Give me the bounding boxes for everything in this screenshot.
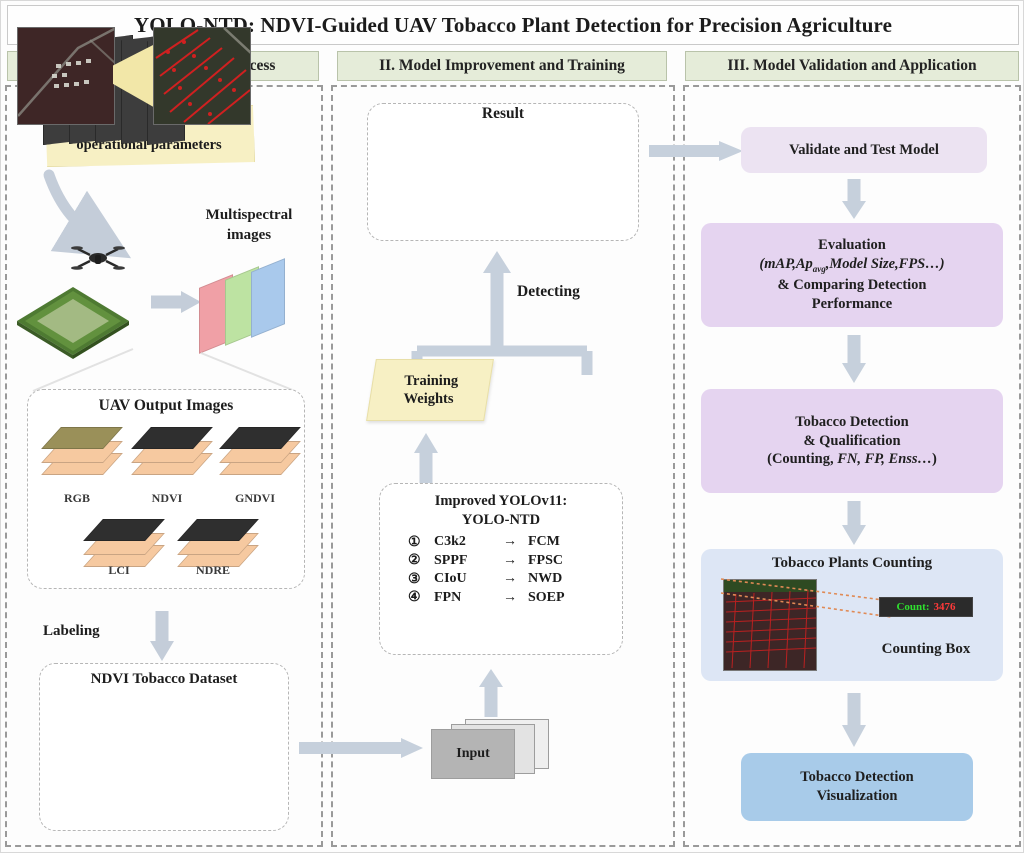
arrow-validate-to-eval [839,177,869,221]
model-title-line1: Improved YOLOv11: [380,492,622,511]
multispectral-bands [197,259,301,355]
improvement-to: NWD [528,571,590,587]
training-weights-line2: Weights [404,390,454,408]
detection-line3-italic: FN, FP, Enss… [837,451,932,467]
arrow-model-to-weights [411,431,441,485]
column-header-3: III. Model Validation and Application [685,51,1019,81]
arrow-dataset-to-input [297,736,427,762]
evaluation-box: Evaluation (mAP,Apavg,Model Size,FPS…) &… [701,223,1003,327]
detection-line3-prefix: (Counting, [767,451,837,467]
improvement-arrow-icon: → [492,571,528,587]
improvement-to: FCM [528,534,590,550]
improvement-number: ③ [408,571,434,588]
labeling-label: Labeling [43,623,139,640]
training-weights-note: Training Weights [366,359,494,421]
validate-label: Validate and Test Model [789,141,939,160]
improvement-row-4: ④ FPN → SOEP [408,589,594,606]
improvement-from: FPN [434,590,492,606]
detecting-label: Detecting [517,283,637,301]
improvement-to: FPSC [528,553,590,569]
counting-title: Tobacco Plants Counting [701,555,1003,572]
improvement-number: ② [408,552,434,569]
arrow-detecting [411,249,601,361]
count-badge-label: Count: [896,601,929,613]
result-image-detections-content [154,28,251,125]
evaluation-line3: & Comparing Detection [777,276,926,295]
arrow-detection-to-counting [839,499,869,547]
improvement-number: ④ [408,589,434,606]
improved-yolo-content: Improved YOLOv11: YOLO-NTD ① C3k2 → FCM … [380,484,622,606]
tobacco-detection-qualification-box: Tobacco Detection & Qualification (Count… [701,389,1003,493]
result-group [367,103,639,241]
arrow-counting-to-visualization [839,691,869,749]
model-title-line2: YOLO-NTD [380,511,622,530]
improved-yolo-group: Improved YOLOv11: YOLO-NTD ① C3k2 → FCM … [379,483,623,655]
arrow-input-to-model [476,667,506,719]
column-header-2: II. Model Improvement and Training [337,51,667,81]
output-label-rgb: RGB [41,491,113,506]
band-blue-plane [251,258,285,338]
improvement-row-3: ③ CIoU → NWD [408,571,594,588]
output-image-stack-ndre [177,517,249,569]
tobacco-detection-visualization-box: Tobacco Detection Visualization [741,753,973,821]
result-image-field [17,27,115,125]
training-weights-line1: Training [405,372,459,390]
detection-line3-suffix: ) [932,451,937,467]
multispectral-label-line1: Multispectral [177,207,321,224]
output-label-lci: LCI [83,563,155,578]
improvement-arrow-icon: → [492,553,528,569]
detection-line2: & Qualification [803,432,900,451]
output-label-ndre: NDRE [177,563,249,578]
improvement-from: CIoU [434,571,492,587]
input-label: Input [456,746,489,762]
arrow-field-to-spectral [149,289,203,317]
count-badge-value: 3476 [934,601,956,613]
ndvi-dataset-group [39,663,289,831]
detection-line1: Tobacco Detection [795,413,908,432]
improvement-number: ① [408,534,434,551]
counting-box-label: Counting Box [851,641,1001,658]
detection-line3: (Counting, FN, FP, Enss…) [767,450,937,469]
improvement-to: SOEP [528,590,590,606]
uav-output-images-group [27,389,305,589]
validate-test-model-box: Validate and Test Model [741,127,987,173]
improvement-row-2: ② SPPF → FPSC [408,552,594,569]
improvement-from: SPPF [434,553,492,569]
evaluation-metrics-subscript: avg [813,264,826,274]
output-image-stack-gndvi [219,425,291,477]
evaluation-line4: Performance [812,295,893,314]
evaluation-metrics-line: (mAP,Apavg,Model Size,FPS…) [759,255,944,276]
perspective-guides [29,347,303,393]
visualization-line1: Tobacco Detection [800,768,913,787]
evaluation-metrics-prefix: (mAP,Ap [759,256,812,272]
ndvi-dataset-title: NDVI Tobacco Dataset [39,671,289,688]
output-image-stack-rgb [41,425,113,477]
output-image-stack-lci [83,517,155,569]
visualization-line2: Visualization [817,787,898,806]
arrow-result-to-validate [647,139,747,165]
improvement-arrow-icon: → [492,590,528,606]
tobacco-plants-counting-panel: Tobacco Plants Counting Count: 3476 Coun… [701,549,1003,681]
improvement-row-1: ① C3k2 → FCM [408,534,594,551]
drone-icon [71,243,125,273]
arrow-labeling [147,609,177,663]
figure-root: YOLO-NTD: NDVI-Guided UAV Tobacco Plant … [0,0,1024,853]
output-label-ndvi: NDVI [131,491,203,506]
result-image-field-content [18,28,115,125]
uav-output-images-title: UAV Output Images [27,397,305,415]
count-badge: Count: 3476 [879,597,973,617]
output-label-gndvi: GNDVI [219,491,291,506]
result-image-detections [153,27,251,125]
evaluation-metrics-tail: ,Model Size,FPS…) [826,256,945,272]
input-card-front: Input [431,729,515,779]
improvement-arrow-icon: → [492,534,528,550]
result-title: Result [367,105,639,123]
multispectral-label-line2: images [177,227,321,244]
evaluation-line1: Evaluation [818,236,886,255]
input-stack: Input [429,719,553,781]
improvement-from: C3k2 [434,534,492,550]
arrow-eval-to-detection [839,333,869,385]
output-image-stack-ndvi [131,425,203,477]
